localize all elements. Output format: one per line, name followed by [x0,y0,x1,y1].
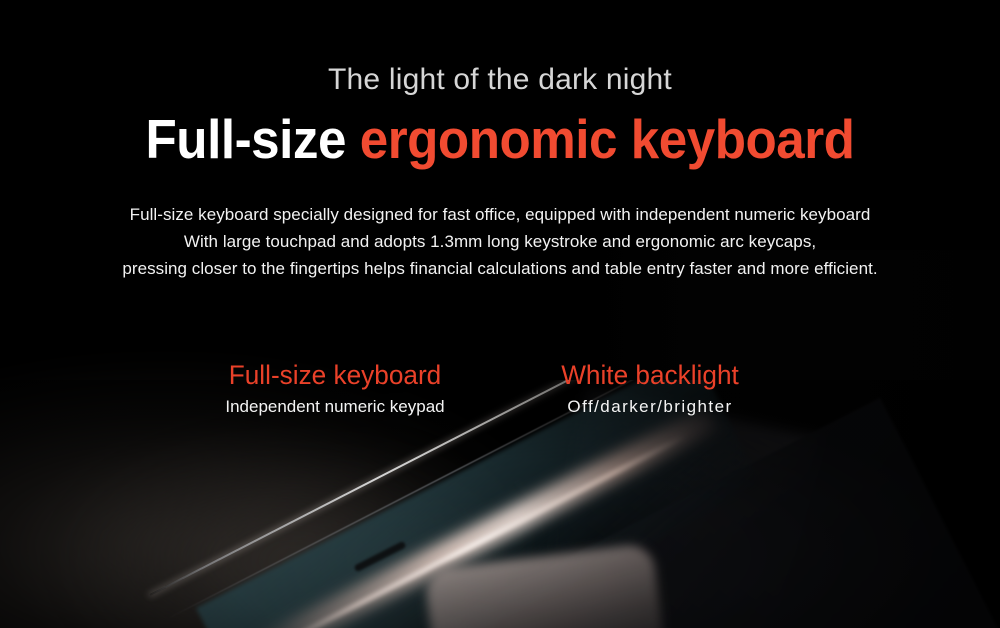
description-line-1: Full-size keyboard specially designed fo… [0,201,1000,228]
banner-content: The light of the dark night Full-size er… [0,0,1000,628]
feature-keyboard-subtitle: Independent numeric keypad [170,395,500,419]
feature-backlight-subtitle: Off/darker/brighter [500,395,800,419]
feature-keyboard-title: Full-size keyboard [175,358,495,392]
headline-white-segment: Full-size [146,108,360,170]
page-title: Full-size ergonomic keyboard [35,106,965,172]
feature-highlights: Full-size keyboard Independent numeric k… [0,358,1000,428]
description-line-2: With large touchpad and adopts 1.3mm lon… [0,228,1000,255]
feature-item-keyboard: Full-size keyboard Independent numeric k… [170,358,500,419]
feature-backlight-title: White backlight [505,358,796,392]
product-feature-banner: The light of the dark night Full-size er… [0,0,1000,628]
feature-item-backlight: White backlight Off/darker/brighter [500,358,800,419]
description-line-3: pressing closer to the fingertips helps … [0,255,1000,282]
headline-red-segment: ergonomic keyboard [360,108,855,170]
description-paragraph: Full-size keyboard specially designed fo… [0,201,1000,282]
eyebrow-text: The light of the dark night [0,60,1000,100]
